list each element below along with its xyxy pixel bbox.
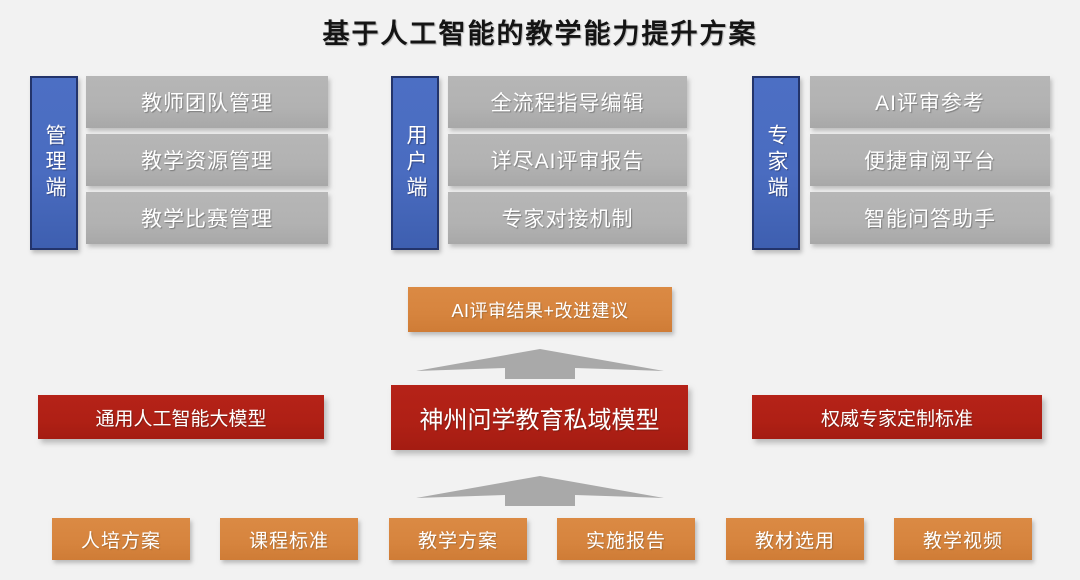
group-admin-tab[interactable]: 管理端 (30, 76, 78, 250)
upper-up-arrow-icon (415, 345, 665, 381)
group-admin-items: 教师团队管理 教学资源管理 教学比赛管理 (86, 76, 328, 252)
group-admin-item-0[interactable]: 教师团队管理 (86, 76, 328, 128)
asset-chip-3[interactable]: 实施报告 (557, 518, 695, 560)
group-admin-item-1[interactable]: 教学资源管理 (86, 134, 328, 186)
asset-chip-4[interactable]: 教材选用 (726, 518, 864, 560)
group-user-item-1[interactable]: 详尽AI评审报告 (448, 134, 687, 186)
group-expert-item-1[interactable]: 便捷审阅平台 (810, 134, 1050, 186)
page-title: 基于人工智能的教学能力提升方案 (0, 12, 1080, 51)
group-expert: 专家端 AI评审参考 便捷审阅平台 智能问答助手 (752, 76, 1050, 252)
group-user-item-2[interactable]: 专家对接机制 (448, 192, 687, 244)
group-expert-item-0[interactable]: AI评审参考 (810, 76, 1050, 128)
asset-chip-2[interactable]: 教学方案 (389, 518, 527, 560)
group-user-items: 全流程指导编辑 详尽AI评审报告 专家对接机制 (448, 76, 687, 252)
group-expert-tab[interactable]: 专家端 (752, 76, 800, 250)
model-general-ai[interactable]: 通用人工智能大模型 (38, 395, 324, 439)
group-expert-item-2[interactable]: 智能问答助手 (810, 192, 1050, 244)
model-expert-standard[interactable]: 权威专家定制标准 (752, 395, 1042, 439)
asset-chip-5[interactable]: 教学视频 (894, 518, 1032, 560)
group-user-tab-label: 用户端 (400, 124, 430, 202)
group-admin: 管理端 教师团队管理 教学资源管理 教学比赛管理 (30, 76, 328, 252)
ai-review-result-bar[interactable]: AI评审结果+改进建议 (408, 287, 672, 332)
group-user-item-0[interactable]: 全流程指导编辑 (448, 76, 687, 128)
group-admin-tab-label: 管理端 (39, 124, 69, 202)
model-private-domain[interactable]: 神州问学教育私域模型 (391, 385, 688, 450)
group-user: 用户端 全流程指导编辑 详尽AI评审报告 专家对接机制 (391, 76, 687, 252)
asset-chip-1[interactable]: 课程标准 (220, 518, 358, 560)
slide-canvas: 基于人工智能的教学能力提升方案 管理端 教师团队管理 教学资源管理 教学比赛管理… (0, 0, 1080, 580)
lower-up-arrow-icon (415, 472, 665, 508)
asset-chip-0[interactable]: 人培方案 (52, 518, 190, 560)
group-user-tab[interactable]: 用户端 (391, 76, 439, 250)
group-expert-items: AI评审参考 便捷审阅平台 智能问答助手 (810, 76, 1050, 252)
group-admin-item-2[interactable]: 教学比赛管理 (86, 192, 328, 244)
group-expert-tab-label: 专家端 (761, 124, 791, 202)
